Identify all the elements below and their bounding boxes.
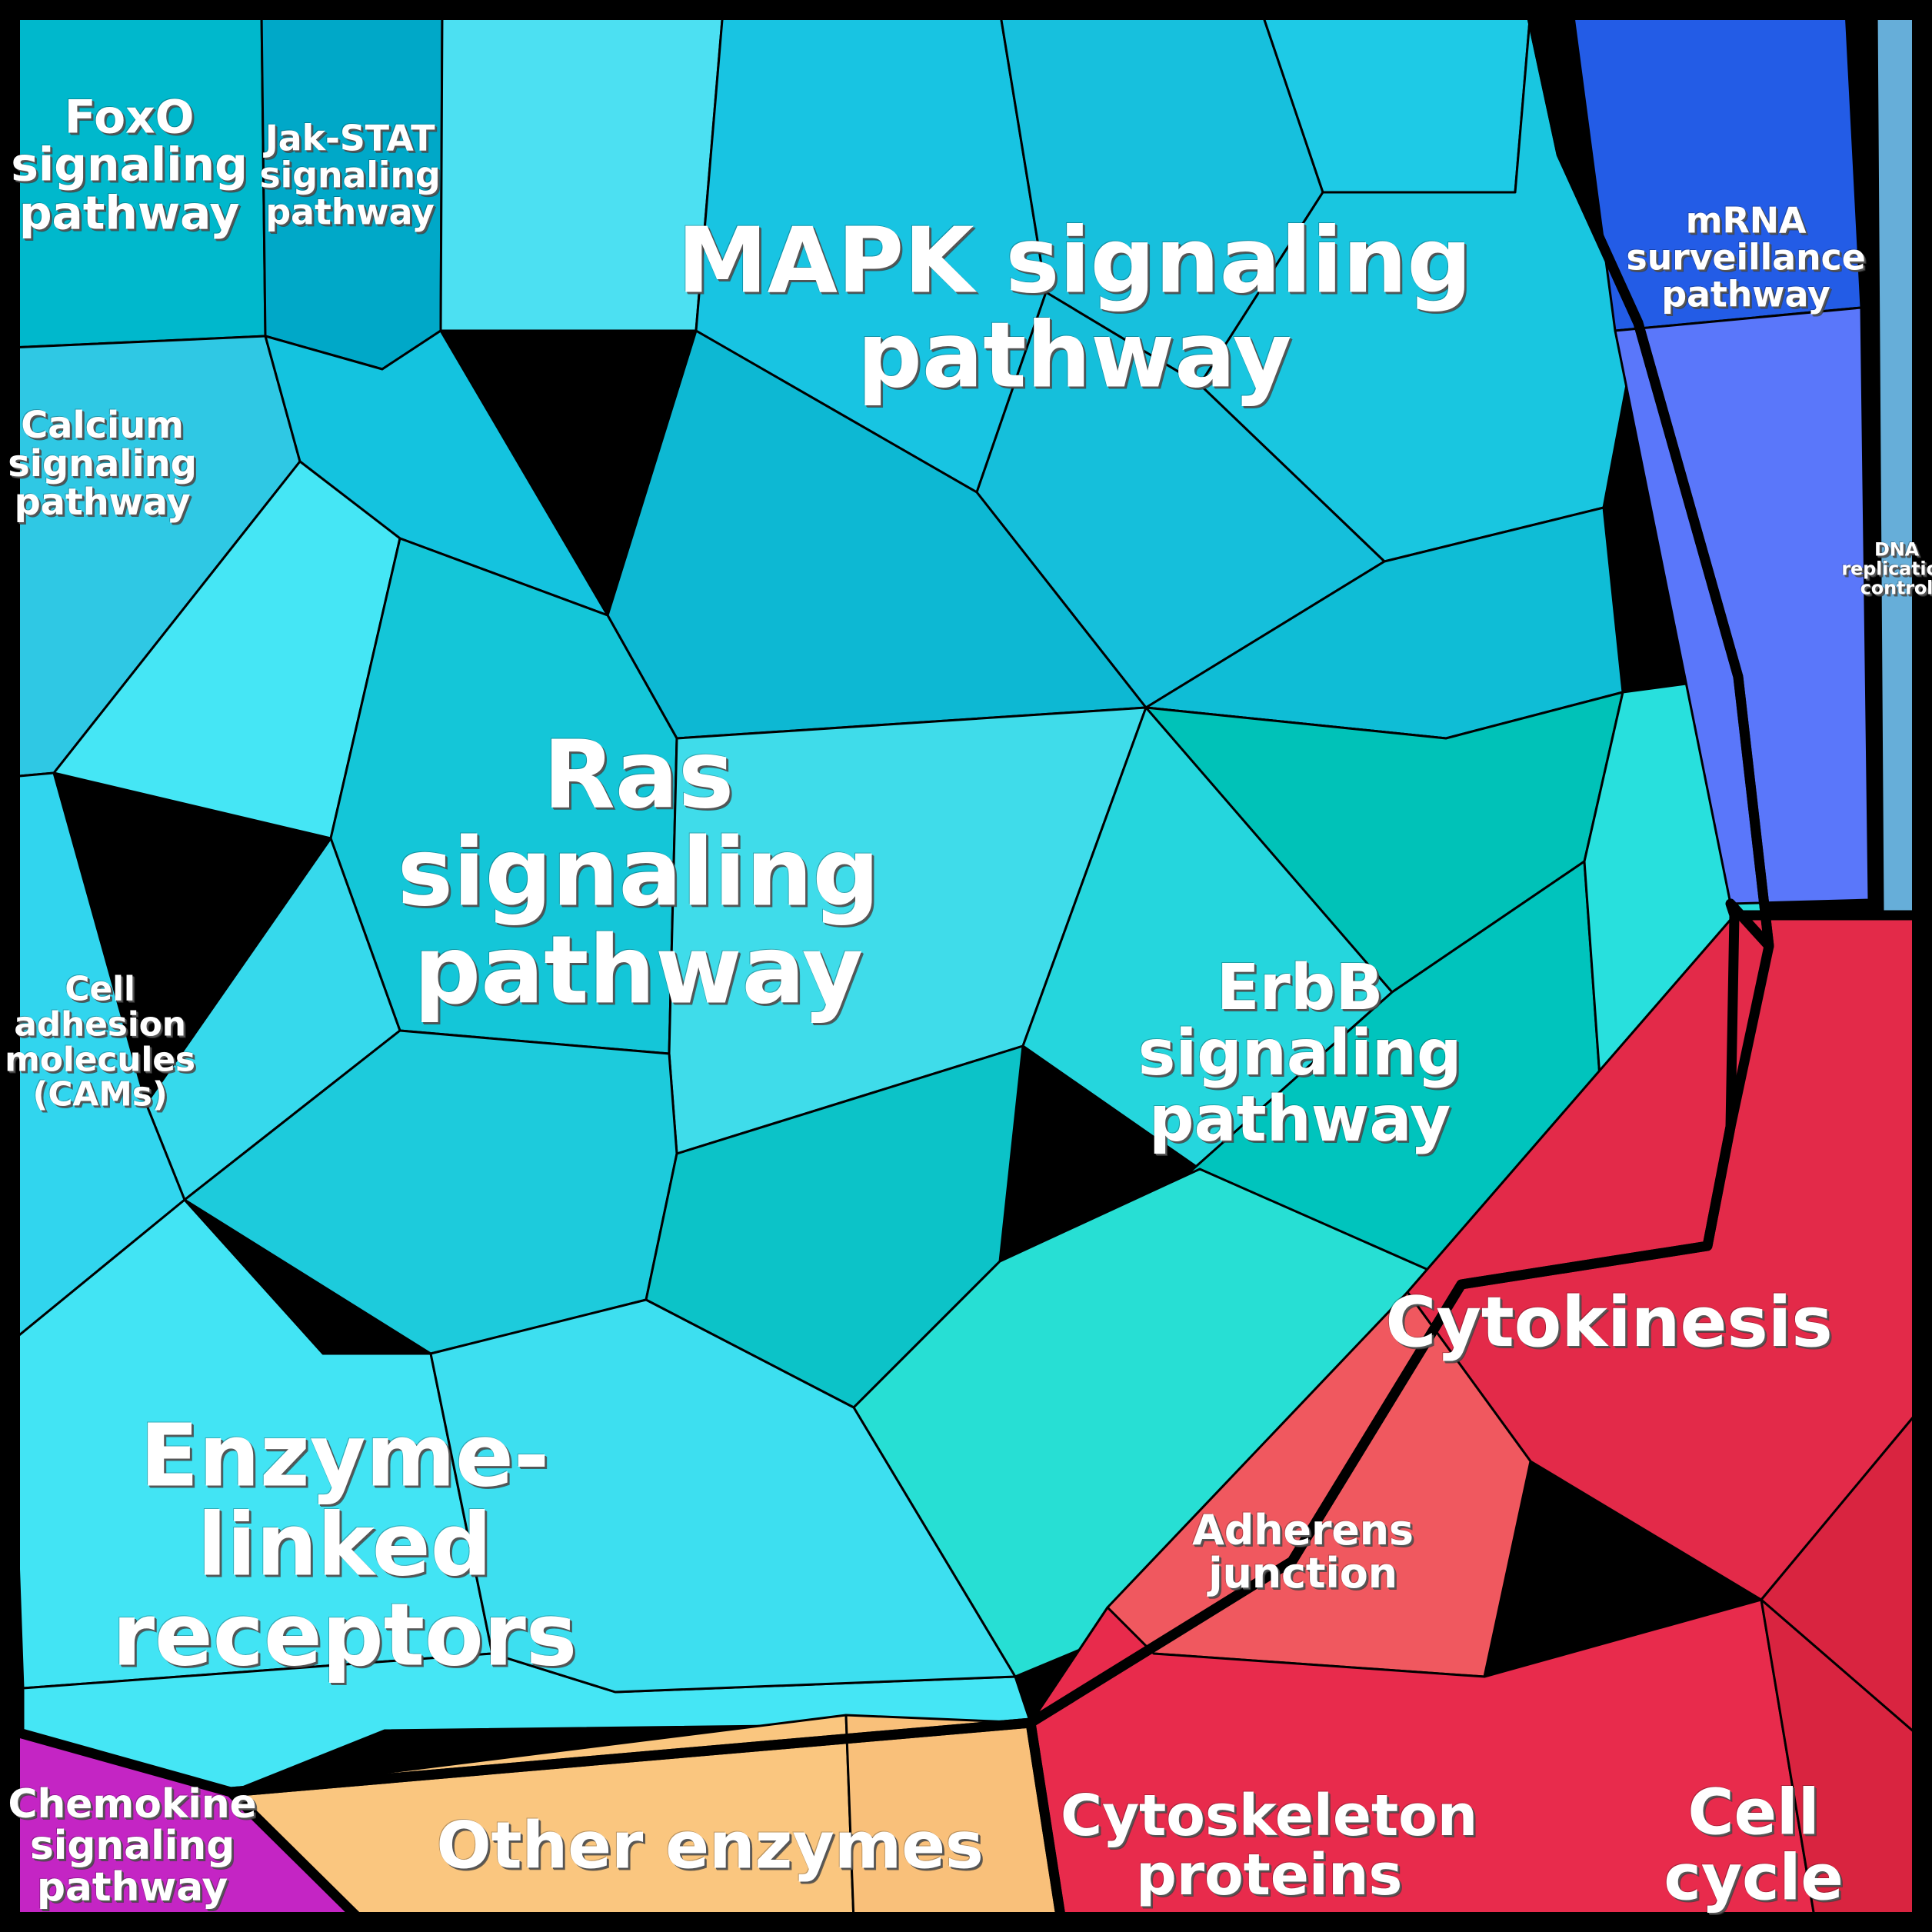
region-labels-layer: FoxO signaling pathwayJak-STAT signaling… (0, 0, 1932, 1932)
region-label-enzyme-linked-receptors: Enzyme- linked receptors (112, 1411, 577, 1680)
region-label-cytokinesis: Cytokinesis (1385, 1287, 1832, 1359)
region-label-other-enzymes: Other enzymes (436, 1812, 983, 1879)
region-label-mapk-signaling-pathway: MAPK signaling pathway (677, 213, 1471, 401)
region-label-cell-cycle: Cell cycle (1664, 1780, 1843, 1912)
region-label-erbb-signaling-pathway: ErbB signaling pathway (1138, 955, 1462, 1152)
region-label-cell-adhesion-molecules-cams: Cell adhesion molecules (CAMs) (5, 972, 195, 1113)
region-label-calcium-signaling-pathway: Calcium signaling pathway (8, 407, 197, 522)
region-label-dna-replication-control: DNA replication control (1841, 541, 1932, 598)
voronoi-treemap-figure: FoxO signaling pathwayJak-STAT signaling… (0, 0, 1932, 1932)
region-label-mrna-surveillance-pathway: mRNA surveillance pathway (1626, 202, 1865, 312)
region-label-chemokine-signaling-pathway: Chemokine signaling pathway (8, 1784, 256, 1908)
region-label-adherens-junction: Adherens junction (1192, 1509, 1414, 1595)
region-label-jak-stat-signaling-pathway: Jak-STAT signaling pathway (259, 120, 440, 230)
region-label-foxo-signaling-pathway: FoxO signaling pathway (11, 93, 247, 237)
region-label-ras-signaling-pathway: Ras signaling pathway (398, 727, 880, 1020)
region-label-cytoskeleton-proteins: Cytoskeleton proteins (1061, 1787, 1477, 1905)
